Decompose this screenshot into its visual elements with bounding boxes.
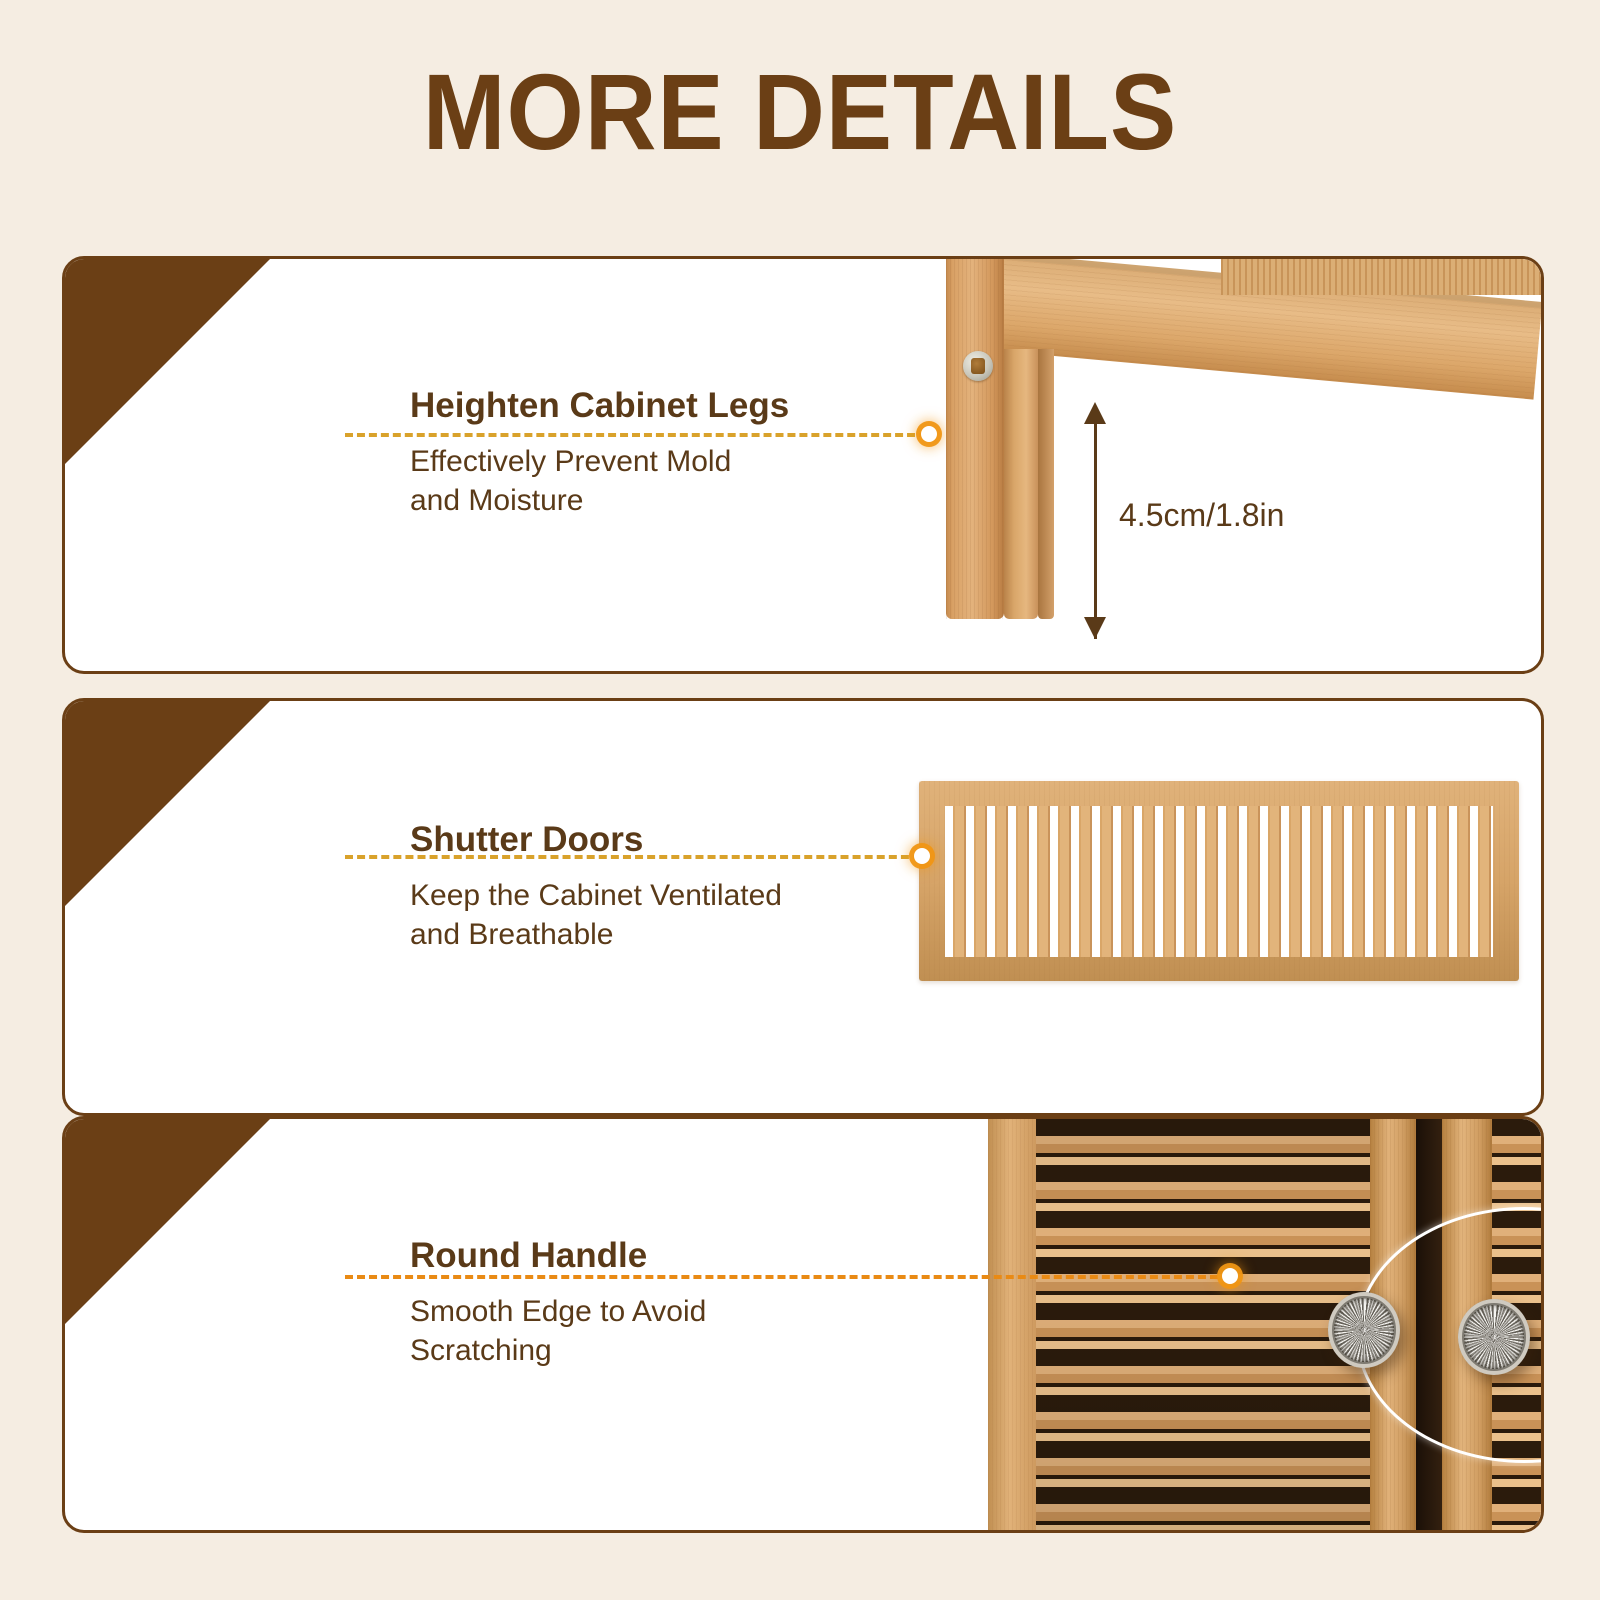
card-subtext: Keep the Cabinet Ventilated and Breathab… [410,876,782,955]
cabinet-doors [988,1119,1541,1530]
round-handle-knob-right-icon [1458,1299,1530,1375]
card-text-block: Round Handle Smooth Edge to Avoid Scratc… [410,1237,706,1371]
cabinet-doors-knobs-photo [926,1119,1541,1530]
shutter-slat-area [945,806,1493,957]
connector-dashed-line [345,433,927,437]
shutter-door-panel-photo [919,781,1519,981]
card-number-badge [65,701,270,906]
door-center-gap [1416,1119,1442,1530]
detail-card-01: 01 Heighten Cabinet Legs Effectively Pre… [62,256,1544,674]
screw-icon [963,351,993,381]
round-handle-knob-left-icon [1328,1292,1400,1368]
dimension-arrow-down-icon [1084,617,1106,639]
cabinet-left-stile [988,1119,1036,1530]
card-heading: Shutter Doors [410,821,782,860]
page-title: MORE DETAILS [64,58,1536,166]
door-shading [1036,1119,1370,1530]
card-number-badge [65,259,270,464]
dimension-line [1094,419,1097,639]
shutter-slats [945,806,1493,957]
connector-endpoint-dot [1222,1268,1238,1284]
card-subtext: Smooth Edge to Avoid Scratching [410,1292,706,1371]
connector-dashed-line [345,855,921,859]
left-slatted-door [1036,1119,1370,1530]
detail-card-03: 03 Round Handle Smooth Edge to Avoid Scr… [62,1116,1544,1533]
connector-dashed-line [345,1275,1230,1279]
connector-endpoint-dot [921,426,937,442]
card-text-block: Shutter Doors Keep the Cabinet Ventilate… [410,821,782,955]
panel-grain-strip [1221,259,1541,295]
card-heading: Round Handle [410,1237,706,1276]
cabinet-leg-inner-edge [1038,349,1054,619]
card-heading: Heighten Cabinet Legs [410,387,789,426]
card-subtext: Effectively Prevent Mold and Moisture [410,442,789,521]
card-text-block: Heighten Cabinet Legs Effectively Preven… [410,387,789,521]
card-number-badge [65,1119,270,1324]
shutter-frame [919,781,1519,981]
cabinet-leg-front [946,259,1004,619]
dimension-label: 4.5cm/1.8in [1119,497,1284,534]
detail-card-02: 02 Shutter Doors Keep the Cabinet Ventil… [62,698,1544,1116]
cabinet-leg-photo: 4.5cm/1.8in [921,259,1541,665]
cabinet-leg-side [1004,349,1038,619]
connector-endpoint-dot [914,848,930,864]
